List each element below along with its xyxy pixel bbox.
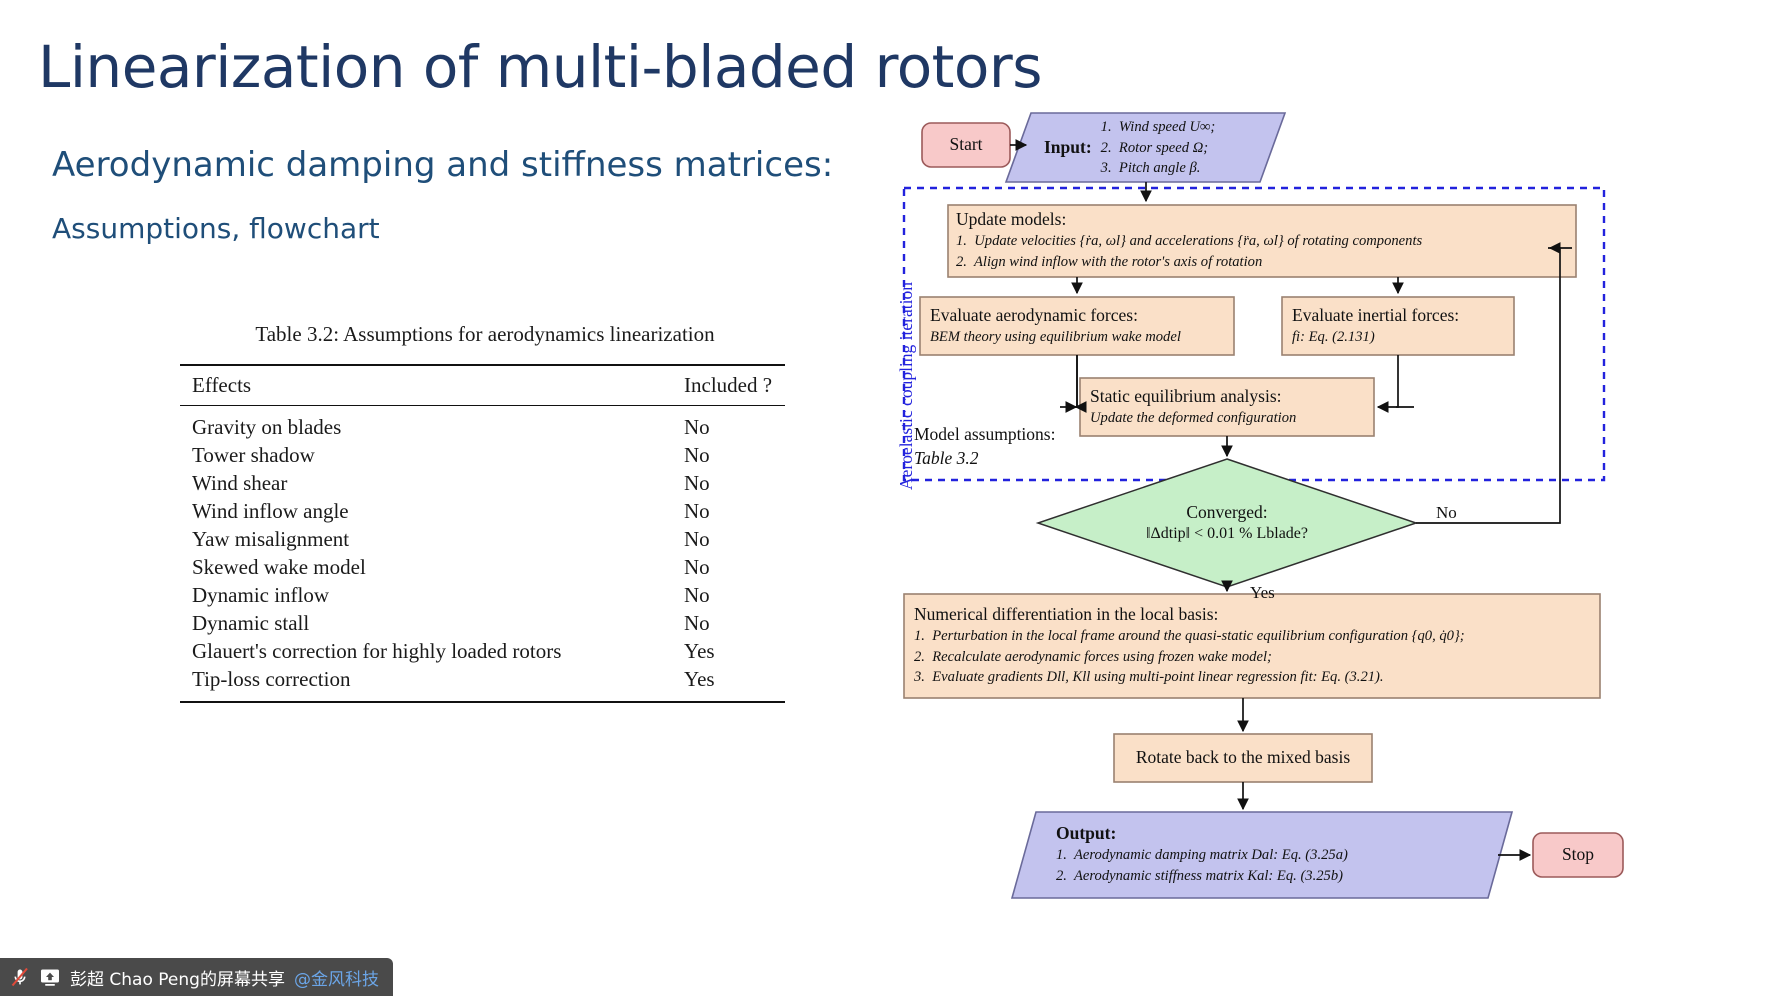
table-row: Dynamic stall No <box>180 610 785 638</box>
cell-effect: Glauert's correction for highly loaded r… <box>180 638 672 666</box>
model-assumptions-ref: Table 3.2 <box>914 447 1055 471</box>
update-models-item: 2. Align wind inflow with the rotor's ax… <box>956 252 1572 273</box>
static-equilibrium-sub: Update the deformed configuration <box>1090 408 1368 429</box>
numerical-diff-item: 2. Recalculate aerodynamic forces using … <box>914 647 1594 668</box>
update-models-title: Update models: <box>956 209 1572 231</box>
rotate-back-label: Rotate back to the mixed basis <box>1114 747 1372 769</box>
cell-effect: Wind inflow angle <box>180 498 672 526</box>
screen-share-taskbar: 彭超 Chao Peng的屏幕共享 @金风科技 <box>0 958 393 996</box>
numerical-diff-item: 3. Evaluate gradients Dll, Kll using mul… <box>914 667 1594 688</box>
mic-muted-icon[interactable] <box>10 966 30 988</box>
column-header-included: Included ? <box>672 365 785 406</box>
output-node-label: Output: <box>1056 823 1500 845</box>
input-item: 2. Rotor speed Ω; <box>1101 138 1216 159</box>
screen-share-org: @金风科技 <box>294 965 379 990</box>
cell-included: No <box>672 442 785 470</box>
aero-forces-title: Evaluate aerodynamic forces: <box>930 305 1230 327</box>
decision-condition: ‖Δdtip‖ < 0.01 % Lblade? <box>1097 524 1357 544</box>
model-assumptions-title: Model assumptions: <box>914 423 1055 447</box>
table-row: Gravity on blades No <box>180 406 785 442</box>
cell-effect: Tower shadow <box>180 442 672 470</box>
numerical-diff-item: 1. Perturbation in the local frame aroun… <box>914 626 1594 647</box>
screen-share-icon[interactable] <box>39 967 61 987</box>
output-item: 1. Aerodynamic damping matrix Dal: Eq. (… <box>1056 845 1500 866</box>
inertial-forces-title: Evaluate inertial forces: <box>1292 305 1510 327</box>
cell-included: No <box>672 554 785 582</box>
cell-effect: Wind shear <box>180 470 672 498</box>
cell-included: Yes <box>672 638 785 666</box>
slide-subtitle-secondary: Assumptions, flowchart <box>52 212 380 245</box>
cell-effect: Tip-loss correction <box>180 666 672 703</box>
input-item: 3. Pitch angle β. <box>1101 158 1216 179</box>
model-assumptions-note: Model assumptions: Table 3.2 <box>914 423 1055 470</box>
table-caption: Table 3.2: Assumptions for aerodynamics … <box>180 322 790 347</box>
page-title: Linearization of multi-bladed rotors <box>38 36 1042 99</box>
cell-included: No <box>672 470 785 498</box>
cell-effect: Skewed wake model <box>180 554 672 582</box>
cell-included: No <box>672 406 785 442</box>
table-row: Skewed wake model No <box>180 554 785 582</box>
assumptions-table: Effects Included ? Gravity on blades No … <box>180 364 785 703</box>
decision-title: Converged: <box>1097 502 1357 524</box>
column-header-effects: Effects <box>180 365 672 406</box>
start-node-label: Start <box>922 134 1010 156</box>
cell-effect: Yaw misalignment <box>180 526 672 554</box>
cell-included: No <box>672 610 785 638</box>
cell-included: Yes <box>672 666 785 703</box>
aeroelastic-linearization-flowchart: Start Input: 1. Wind speed U∞; 2. Rotor … <box>900 105 1690 935</box>
table-row: Dynamic inflow No <box>180 582 785 610</box>
cell-included: No <box>672 582 785 610</box>
decision-no-label: No <box>1436 503 1496 523</box>
table-row: Wind inflow angle No <box>180 498 785 526</box>
connector-aero-static-path <box>1075 355 1077 407</box>
table-head: Effects Included ? <box>180 365 785 406</box>
table-row: Yaw misalignment No <box>180 526 785 554</box>
table-row: Glauert's correction for highly loaded r… <box>180 638 785 666</box>
assumptions-table-block: Table 3.2: Assumptions for aerodynamics … <box>180 322 790 703</box>
table-row: Tip-loss correction Yes <box>180 666 785 703</box>
table-row: Wind shear No <box>180 470 785 498</box>
cell-included: No <box>672 526 785 554</box>
stop-node-label: Stop <box>1533 844 1623 866</box>
input-item: 1. Wind speed U∞; <box>1101 117 1216 138</box>
cell-effect: Dynamic stall <box>180 610 672 638</box>
cell-effect: Dynamic inflow <box>180 582 672 610</box>
presentation-slide: Linearization of multi-bladed rotors Aer… <box>0 0 1768 996</box>
screen-share-title: 彭超 Chao Peng的屏幕共享 <box>70 965 285 990</box>
cell-included: No <box>672 498 785 526</box>
update-models-item: 1. Update velocities {ṙa, ωl} and accele… <box>956 231 1572 252</box>
table-row: Tower shadow No <box>180 442 785 470</box>
input-node-label: Input: <box>1044 137 1092 159</box>
decision-yes-label: Yes <box>1250 583 1310 603</box>
output-item: 2. Aerodynamic stiffness matrix Kal: Eq.… <box>1056 866 1500 887</box>
table-header-row: Effects Included ? <box>180 365 785 406</box>
connector-inertial-static-path <box>1396 355 1398 407</box>
connector-no-feedback <box>1416 248 1560 523</box>
slide-subtitle-primary: Aerodynamic damping and stiffness matric… <box>52 145 833 185</box>
aero-forces-sub: BEM theory using equilibrium wake model <box>930 327 1230 348</box>
cell-effect: Gravity on blades <box>180 406 672 442</box>
static-equilibrium-title: Static equilibrium analysis: <box>1090 386 1368 408</box>
table-body: Gravity on blades No Tower shadow No Win… <box>180 406 785 703</box>
inertial-forces-sub: fi: Eq. (2.131) <box>1292 327 1510 348</box>
